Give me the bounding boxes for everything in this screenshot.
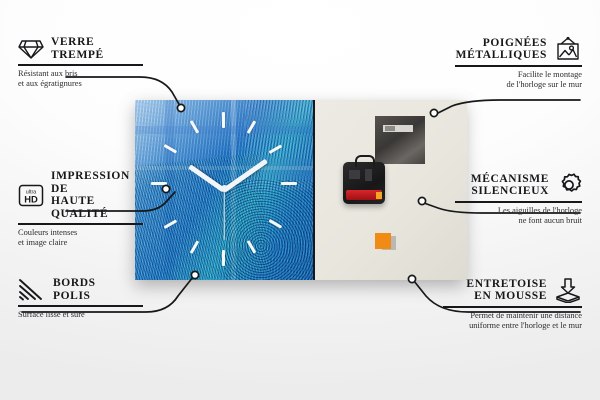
diamond-icon: [18, 38, 44, 60]
mechanism-hook: [355, 155, 375, 167]
ultra-hd-icon: ultra HD: [18, 184, 44, 207]
product-photo: [135, 100, 465, 280]
infographic-canvas: VERRE TREMPÉ Résistant aux bris et aux é…: [0, 0, 600, 400]
callout-impression-haute-qualite[interactable]: ultra HD IMPRESSION DE HAUTE QUALITÉ Cou…: [18, 170, 143, 248]
callout-mecanisme-silencieux[interactable]: MÉCANISME SILENCIEUX Les aiguilles de l'…: [455, 172, 582, 226]
callout-header: POIGNÉES MÉTALLIQUES: [455, 36, 582, 62]
callout-title: ENTRETOISE EN MOUSSE: [466, 278, 547, 303]
foam-spacer: [375, 233, 391, 249]
callout-title: MÉCANISME SILENCIEUX: [471, 173, 549, 198]
clock-back-panel: [313, 100, 467, 280]
callout-header: VERRE TREMPÉ: [18, 36, 143, 61]
foam-spacer-icon: [554, 277, 582, 303]
callout-subtitle: Couleurs intenses et image claire: [18, 228, 143, 248]
callout-rule: [18, 305, 143, 307]
callout-header: BORDS POLIS: [18, 277, 143, 302]
callout-title: VERRE TREMPÉ: [51, 36, 104, 61]
callout-title: POIGNÉES MÉTALLIQUES: [456, 37, 547, 62]
face-gloss: [135, 100, 313, 280]
clock-mechanism: [343, 162, 385, 204]
callout-title: BORDS POLIS: [53, 277, 96, 302]
callout-rule: [443, 306, 582, 308]
callout-header: ENTRETOISE EN MOUSSE: [443, 277, 582, 303]
callout-rule: [455, 201, 582, 203]
callout-subtitle: Surface lisse et sûre: [18, 310, 143, 320]
callout-subtitle: Permet de maintenir une distance uniform…: [443, 311, 582, 331]
gear-icon: [556, 172, 582, 198]
callout-subtitle: Les aiguilles de l'horloge ne font aucun…: [455, 206, 582, 226]
callout-poignees-metalliques[interactable]: POIGNÉES MÉTALLIQUES Facilite le montage…: [455, 36, 582, 90]
callout-rule: [18, 223, 143, 225]
callout-rule: [455, 65, 582, 67]
metal-hanger-plate: [375, 116, 425, 164]
clock-face: [135, 100, 313, 280]
callout-title: IMPRESSION DE HAUTE QUALITÉ: [51, 170, 143, 220]
callout-rule: [18, 64, 143, 66]
mechanism-detail: [349, 170, 360, 179]
callout-bords-polis[interactable]: BORDS POLIS Surface lisse et sûre: [18, 277, 143, 320]
battery-plus-terminal: [376, 192, 382, 199]
svg-text:HD: HD: [24, 193, 38, 204]
callout-subtitle: Résistant aux bris et aux égratignures: [18, 69, 143, 89]
callout-header: MÉCANISME SILENCIEUX: [455, 172, 582, 198]
picture-hanger-icon: [554, 36, 582, 62]
hanger-slot-hole: [385, 126, 395, 131]
callout-entretoise-en-mousse[interactable]: ENTRETOISE EN MOUSSE Permet de maintenir…: [443, 277, 582, 331]
callout-subtitle: Facilite le montage de l'horloge sur le …: [455, 70, 582, 90]
polished-edges-icon: [18, 278, 46, 302]
mechanism-detail: [365, 169, 372, 181]
callout-header: ultra HD IMPRESSION DE HAUTE QUALITÉ: [18, 170, 143, 220]
callout-verre-trempe[interactable]: VERRE TREMPÉ Résistant aux bris et aux é…: [18, 36, 143, 89]
